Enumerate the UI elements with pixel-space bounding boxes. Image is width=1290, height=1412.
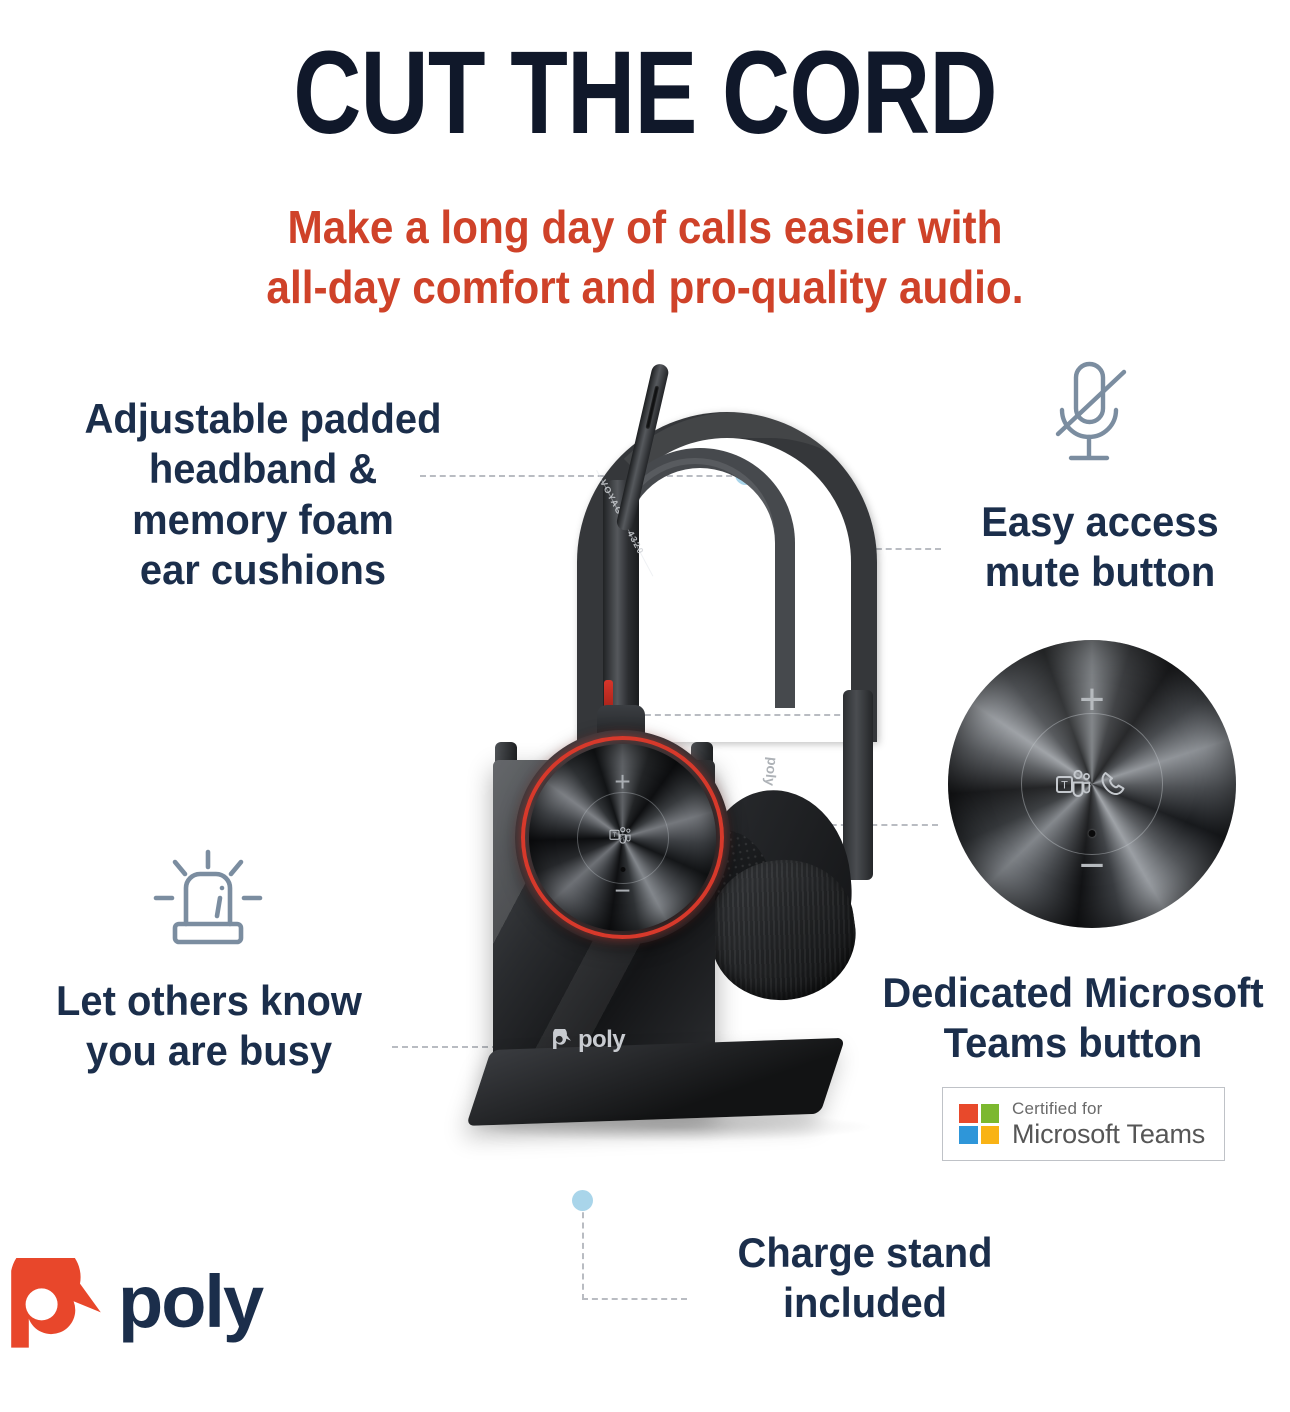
- callout-teams: Dedicated Microsoft Teams button: [869, 968, 1278, 1069]
- microsoft-logo-icon: [959, 1104, 999, 1144]
- svg-text:T: T: [612, 832, 616, 839]
- poly-brand-logo: poly: [4, 1258, 262, 1354]
- ms-square-red: [959, 1104, 978, 1123]
- ms-square-yellow: [981, 1126, 1000, 1145]
- product-image-voyager-headset: VOYAGER 4320 poly poly + −: [455, 360, 875, 1210]
- page-title: CUT THE CORD: [129, 34, 1161, 152]
- headband-poly-brand: poly: [762, 756, 781, 786]
- callout-teams-line-2: Teams button: [869, 1018, 1278, 1068]
- beacon-light-icon: [148, 848, 268, 963]
- headband-right-arm: [843, 690, 873, 880]
- badge-text: Certified for Microsoft Teams: [1012, 1100, 1205, 1148]
- connector-charge-horizontal: [582, 1298, 687, 1300]
- phone-handset-icon: [1098, 769, 1128, 799]
- infographic-canvas: CUT THE CORD Make a long day of calls ea…: [0, 0, 1290, 1412]
- near-earcup-control-face: + − T: [529, 744, 716, 931]
- callout-headband-line-2: headband &: [40, 444, 487, 494]
- page-subtitle: Make a long day of calls easier with all…: [185, 198, 1105, 318]
- ms-square-green: [981, 1104, 1000, 1123]
- microphone-muted-icon: [1040, 358, 1138, 485]
- callout-mute-line-2: mute button: [939, 547, 1262, 597]
- callout-charge-line-1: Charge stand: [708, 1228, 1022, 1278]
- teams-glyph-icon: T: [1056, 769, 1090, 799]
- callout-charge-stand: Charge stand included: [708, 1228, 1022, 1329]
- subtitle-line-2: all-day comfort and pro-quality audio.: [185, 258, 1105, 318]
- poly-mark-icon: [551, 1029, 573, 1051]
- subtitle-line-1: Make a long day of calls easier with: [185, 198, 1105, 258]
- callout-charge-line-2: included: [708, 1278, 1022, 1328]
- earcup-button-detail: + − T: [948, 640, 1236, 928]
- ms-square-blue: [959, 1126, 978, 1145]
- detail-led-indicator: [1089, 830, 1096, 837]
- callout-busy-line-2: you are busy: [24, 1026, 395, 1076]
- charge-stand-brand: poly: [551, 1026, 625, 1054]
- callout-mute-line-1: Easy access: [939, 497, 1262, 547]
- callout-headband-line-4: ear cushions: [40, 545, 487, 595]
- callout-headband: Adjustable padded headband & memory foam…: [40, 394, 487, 596]
- charge-stand-brand-text: poly: [578, 1026, 625, 1054]
- badge-product-label: Microsoft Teams: [1012, 1121, 1205, 1148]
- callout-headband-line-1: Adjustable padded: [40, 394, 487, 444]
- poly-wordmark: poly: [118, 1265, 262, 1339]
- certified-for-microsoft-teams-badge: Certified for Microsoft Teams: [942, 1087, 1225, 1161]
- badge-certified-label: Certified for: [1012, 1100, 1205, 1117]
- callout-busy-line-1: Let others know: [24, 976, 395, 1026]
- callout-headband-line-3: memory foam: [40, 495, 487, 545]
- callout-busy: Let others know you are busy: [24, 976, 395, 1077]
- boom-mic-slot: [645, 385, 659, 429]
- svg-text:T: T: [1061, 779, 1068, 791]
- callout-mute: Easy access mute button: [939, 497, 1262, 598]
- connector-charge-vertical: [582, 1202, 584, 1300]
- callout-teams-line-1: Dedicated Microsoft: [869, 968, 1278, 1018]
- poly-mark-icon: [4, 1258, 108, 1354]
- teams-glyph-icon: T: [609, 826, 633, 844]
- product-ground-shadow: [465, 1112, 875, 1142]
- detail-teams-call-buttons[interactable]: T: [1056, 769, 1128, 799]
- teams-button-icon[interactable]: T: [609, 826, 633, 849]
- earcup-led-indicator: [620, 867, 625, 872]
